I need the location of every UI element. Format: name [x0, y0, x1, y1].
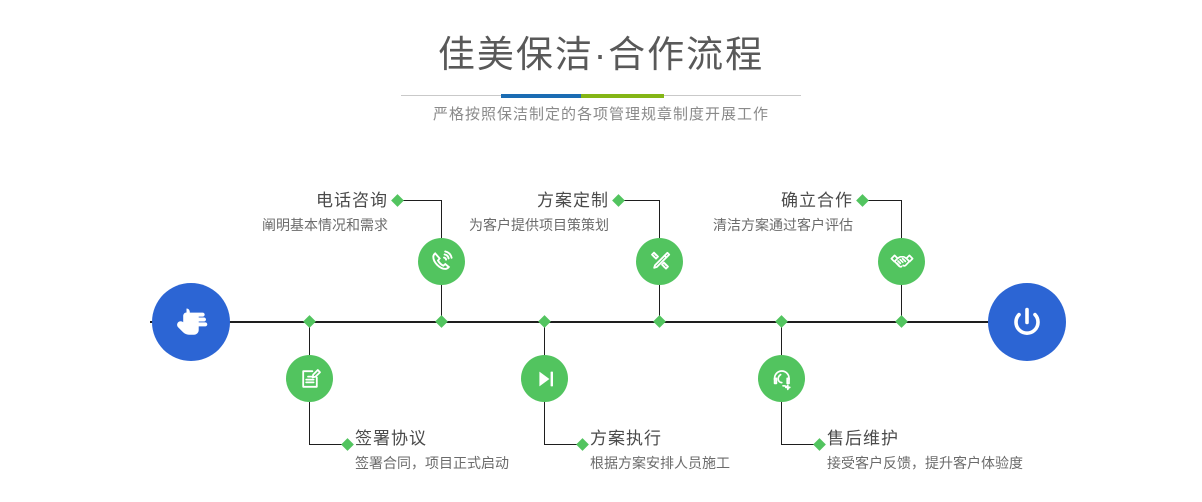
- step-desc-5: 清洁方案通过客户评估: [684, 218, 853, 232]
- flowchart-page: 佳美保洁·合作流程 严格按照保洁制定的各项管理规章制度开展工作: [0, 0, 1202, 502]
- step-desc-1: 阐明基本情况和需求: [221, 218, 388, 232]
- page-title: 佳美保洁·合作流程: [0, 36, 1202, 73]
- play-skip-icon: [531, 365, 559, 393]
- step-node-6: [758, 355, 805, 402]
- step-desc-2: 签署合同，项目正式启动: [355, 456, 509, 470]
- step-node-5: [878, 238, 925, 285]
- phone-call-icon: [428, 248, 456, 276]
- step-label-6: 售后维护 接受客户反馈，提升客户体验度: [827, 430, 1023, 470]
- connector-vline-3: [659, 200, 660, 240]
- step-desc-4: 根据方案安排人员施工: [590, 456, 730, 470]
- axis-diamond-1: [435, 315, 448, 328]
- timeline-axis: [150, 321, 1053, 323]
- step-label-2: 签署协议 签署合同，项目正式启动: [355, 430, 509, 470]
- connector-vline-5: [901, 200, 902, 240]
- step-label-1: 电话咨询 阐明基本情况和需求: [221, 192, 388, 232]
- step-node-1: [418, 238, 465, 285]
- timeline-end-node: [988, 283, 1066, 361]
- connector-diamond-5: [856, 194, 869, 207]
- step-title-5: 确立合作: [684, 192, 853, 209]
- axis-diamond-4: [538, 315, 551, 328]
- step-title-3: 方案定制: [440, 192, 609, 209]
- pencil-ruler-icon: [646, 248, 674, 276]
- handshake-icon: [888, 248, 916, 276]
- title-divider: [401, 94, 801, 97]
- connector-vline-1: [441, 200, 442, 240]
- axis-diamond-5: [895, 315, 908, 328]
- pointing-hand-icon: [169, 300, 213, 344]
- headset-add-icon: [768, 365, 796, 393]
- axis-diamond-2: [303, 315, 316, 328]
- document-edit-icon: [296, 365, 324, 393]
- connector-vline-4b: [544, 400, 545, 444]
- connector-diamond-6: [813, 438, 826, 451]
- connector-diamond-4: [576, 438, 589, 451]
- connector-vline-6b: [781, 400, 782, 444]
- step-node-4: [521, 355, 568, 402]
- step-title-1: 电话咨询: [221, 192, 388, 209]
- connector-diamond-3: [612, 194, 625, 207]
- axis-diamond-3: [653, 315, 666, 328]
- power-icon: [1005, 300, 1049, 344]
- connector-diamond-2: [341, 438, 354, 451]
- step-label-5: 确立合作 清洁方案通过客户评估: [684, 192, 853, 232]
- step-node-2: [286, 355, 333, 402]
- connector-diamond-1: [391, 194, 404, 207]
- step-title-6: 售后维护: [827, 430, 1023, 447]
- step-desc-3: 为客户提供项目策策划: [440, 218, 609, 232]
- step-desc-6: 接受客户反馈，提升客户体验度: [827, 456, 1023, 470]
- step-label-4: 方案执行 根据方案安排人员施工: [590, 430, 730, 470]
- step-title-2: 签署协议: [355, 430, 509, 447]
- step-node-3: [636, 238, 683, 285]
- connector-vline-2b: [309, 400, 310, 444]
- timeline-start-node: [152, 283, 230, 361]
- step-title-4: 方案执行: [590, 430, 730, 447]
- step-label-3: 方案定制 为客户提供项目策策划: [440, 192, 609, 232]
- page-subtitle: 严格按照保洁制定的各项管理规章制度开展工作: [0, 107, 1202, 122]
- divider-segment-blue: [501, 94, 581, 98]
- axis-diamond-6: [775, 315, 788, 328]
- divider-segment-green: [581, 94, 664, 98]
